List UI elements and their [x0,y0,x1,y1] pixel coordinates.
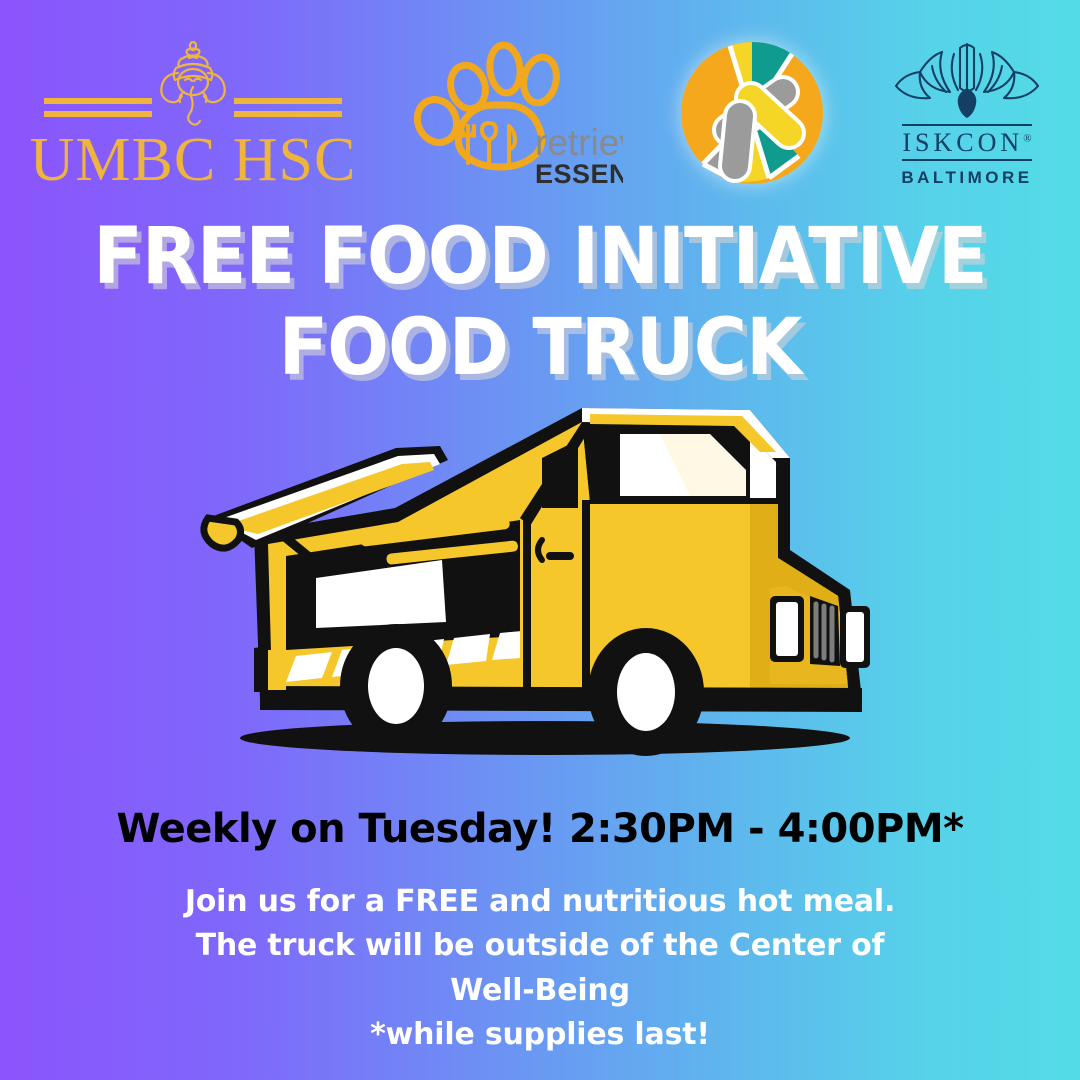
headline-line-2: FOOD TRUCK [38,303,1042,394]
details-line-3: Well-Being [0,969,1080,1013]
details-line-4: *while supplies last! [0,1013,1080,1057]
schedule-text: Weekly on Tuesday! 2:30PM - 4:00PM* [0,806,1080,852]
umbc-rule-left [44,98,152,129]
details-line-2: The truck will be outside of the Center … [0,924,1080,968]
logo-retriever-essentials: retriever ESSENTIALS [413,33,623,193]
umbc-rule-right [234,98,342,129]
details-line-1: Join us for a FREE and nutritious hot me… [0,880,1080,924]
retriever-word: retriever [535,122,623,163]
circular-r-monogram-icon [677,38,827,188]
iskcon-wordmark: ISKCON® [902,124,1031,160]
food-truck-illustration [0,400,1080,790]
umbc-emblem [28,37,358,129]
truck-shadow [240,721,850,755]
poster: UMBC HSC retriever ESSENTIALS [0,0,1080,1080]
umbc-wordmark: UMBC HSC [30,131,357,190]
page-title: FREE FOOD INITIATIVE FOOD TRUCK [38,212,1042,395]
iskcon-city: BALTIMORE [901,168,1032,188]
logo-iskcon-baltimore: ISKCON® BALTIMORE [882,38,1052,187]
registered-trademark-icon: ® [1023,133,1031,145]
paw-print-with-utensils-icon: retriever ESSENTIALS [413,33,623,193]
iskcon-text: ISKCON [902,128,1023,157]
headline-line-1: FREE FOOD INITIATIVE [38,212,1042,303]
food-truck-graphic [190,400,890,770]
logo-circle-r-mark [677,38,827,188]
logo-umbc-hsc: UMBC HSC [28,37,358,190]
details-text: Join us for a FREE and nutritious hot me… [0,880,1080,1058]
logo-strip: UMBC HSC retriever ESSENTIALS [0,18,1080,208]
lotus-flower-icon [892,38,1042,120]
ganesha-head-icon [154,37,232,129]
essentials-word: ESSENTIALS [535,159,623,189]
